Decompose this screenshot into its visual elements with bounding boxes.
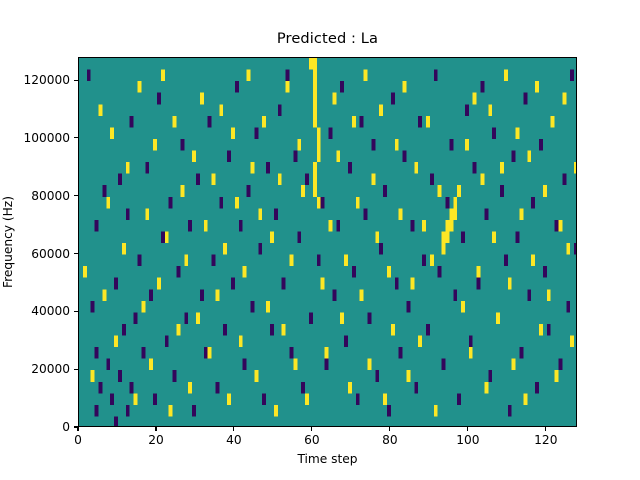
x-tick-label: 60 [304, 433, 320, 447]
x-tick-label: 40 [226, 433, 242, 447]
y-tick-mark [74, 195, 78, 196]
x-axis-label: Time step [78, 452, 577, 466]
y-tick-mark [74, 369, 78, 370]
heatmap-axes [78, 57, 577, 427]
x-tick-mark [233, 427, 234, 431]
y-tick-mark [74, 137, 78, 138]
x-tick-mark [77, 427, 78, 431]
page-title: Predicted : La [78, 30, 577, 47]
x-tick-label: 100 [456, 433, 479, 447]
y-tick-mark [74, 253, 78, 254]
y-tick-mark [74, 311, 78, 312]
y-tick-mark [74, 80, 78, 81]
x-tick-mark [389, 427, 390, 431]
x-tick-label: 80 [382, 433, 398, 447]
x-tick-label: 0 [74, 433, 82, 447]
y-axis-label-text: Frequency (Hz) [1, 196, 15, 288]
x-tick-mark [155, 427, 156, 431]
x-tick-label: 120 [534, 433, 557, 447]
x-tick-mark [545, 427, 546, 431]
x-tick-mark [467, 427, 468, 431]
x-tick-mark [311, 427, 312, 431]
matplotlib-figure: Predicted : La 0200004000060000800001000… [0, 0, 640, 480]
y-axis-label: Frequency (Hz) [0, 57, 16, 427]
spectrogram-heatmap [79, 58, 577, 427]
x-tick-label: 20 [148, 433, 164, 447]
